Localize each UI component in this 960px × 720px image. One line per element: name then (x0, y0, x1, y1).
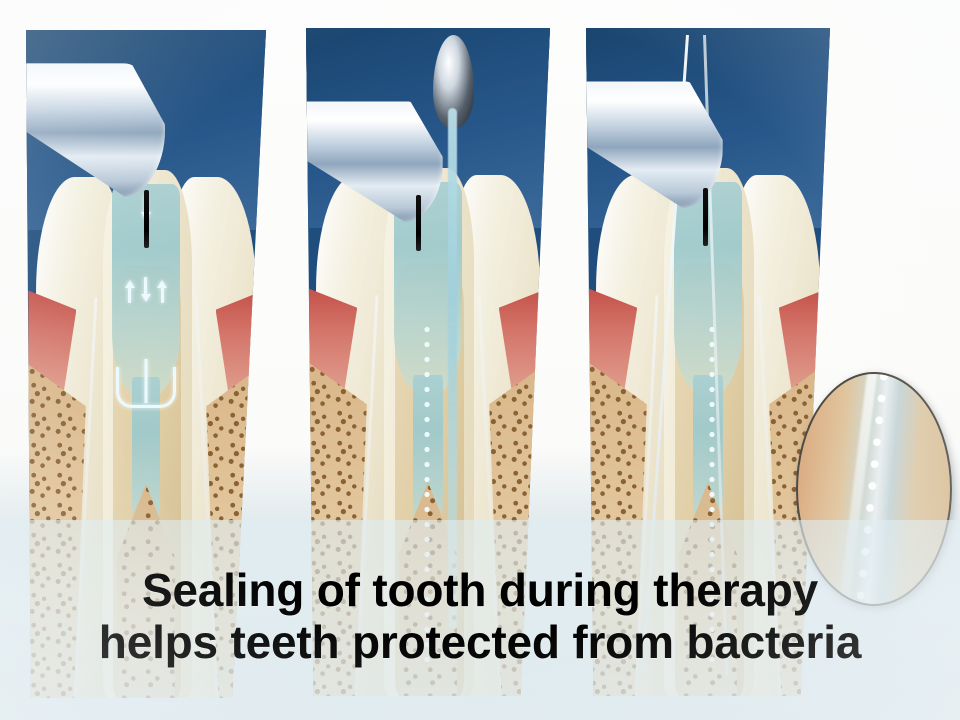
caption-band: Sealing of tooth during therapy helps te… (0, 520, 960, 720)
dental-illustration-slide: Sealing of tooth during therapy helps te… (0, 0, 960, 720)
dental-bur-icon (144, 190, 149, 248)
caption-line-2: helps teeth protected from bacteria (99, 616, 861, 668)
caption-line-1: Sealing of tooth during therapy (142, 564, 818, 616)
dental-bur-icon (416, 195, 421, 251)
dental-bur-icon (703, 188, 708, 246)
